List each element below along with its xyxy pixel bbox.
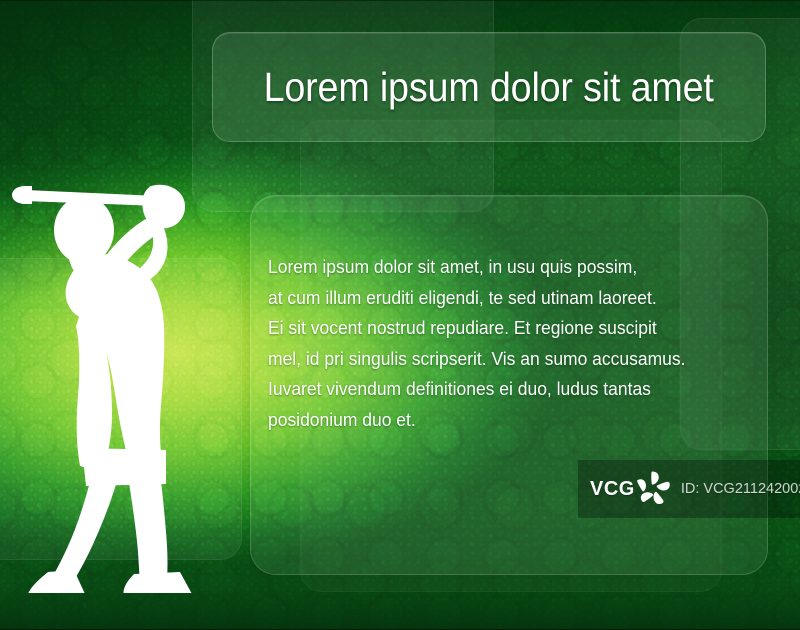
body-copy: Lorem ipsum dolor sit amet, in usu quis …	[268, 252, 735, 435]
page-title: Lorem ipsum dolor sit amet	[264, 67, 714, 108]
body-line: Ei sit vocent nostrud repudiare. Et regi…	[268, 313, 735, 344]
top-edge-line	[0, 0, 800, 1]
poster-canvas: Lorem ipsum dolor sit amet Lorem ipsum d…	[0, 0, 800, 630]
vcg-wordmark: VCG	[590, 478, 635, 501]
body-line: Lorem ipsum dolor sit amet, in usu quis …	[268, 252, 735, 283]
golfer-silhouette-icon	[8, 168, 218, 593]
vcg-logo: VCG	[590, 469, 673, 509]
watermark-id: ID: VCG211242002303	[681, 481, 800, 497]
title-panel: Lorem ipsum dolor sit amet	[212, 32, 766, 142]
body-line: posidonium duo et.	[268, 405, 735, 436]
body-line: mel, id pri singulis scripserit. Vis an …	[268, 344, 735, 375]
body-line: at cum illum eruditi eligendi, te sed ut…	[268, 283, 735, 314]
vcg-pinwheel-icon	[633, 469, 673, 509]
watermark-bar: VCG ID: VCG211242002303	[578, 460, 800, 518]
body-line: Iuvaret vivendum definitiones ei duo, lu…	[268, 374, 735, 405]
